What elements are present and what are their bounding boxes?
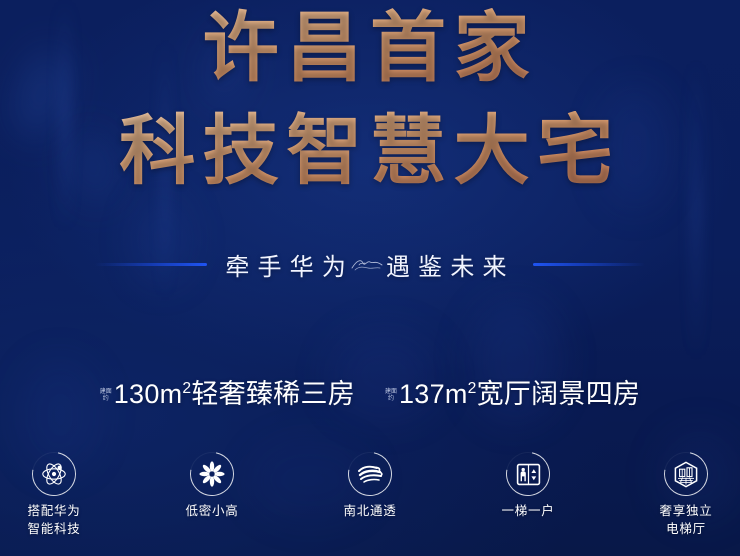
- feature-ring: [190, 452, 234, 496]
- spec-item: 建面 约 137m2宽厅阔景四房: [385, 381, 640, 408]
- feature-item-smart-tech: 搭配华为 智能科技: [11, 452, 97, 539]
- subtitle-text-left: 牵手华为: [225, 247, 354, 282]
- flower-icon: [199, 461, 225, 487]
- promo-banner: 许昌首家 科技智慧大宅 牵手华为 遇鉴未来 建面 约 130m2轻奢臻稀三房: [0, 0, 740, 556]
- headline-line-2: 科技智慧大宅: [0, 111, 740, 192]
- spec-unit: m: [160, 379, 183, 409]
- feature-label: 奢享独立 电梯厅: [659, 503, 712, 539]
- spec-prefix: 建面 约: [100, 389, 112, 402]
- feature-ring: [348, 452, 392, 496]
- spec-area: 137: [399, 379, 445, 409]
- spec-main-text: 130m2轻奢臻稀三房: [114, 381, 355, 408]
- elevator-icon: [516, 462, 541, 487]
- spec-main-text: 137m2宽厅阔景四房: [399, 381, 640, 408]
- spec-area: 130: [114, 379, 160, 409]
- feature-ring: [506, 452, 550, 496]
- feature-item-private-lobby: 奢享独立 电梯厅: [643, 452, 729, 539]
- spec-prefix-line-2: 约: [103, 396, 109, 402]
- lobby-icon: [673, 461, 699, 488]
- headline-line-1: 许昌首家: [0, 8, 740, 89]
- feature-label: 搭配华为 智能科技: [27, 503, 80, 539]
- spec-description: 宽厅阔景四房: [477, 379, 641, 409]
- spec-description: 轻奢臻稀三房: [191, 379, 355, 409]
- subtitle-block: 牵手华为 遇鉴未来: [0, 245, 740, 283]
- feature-item-one-unit-per-lift: 一梯一户: [485, 452, 571, 521]
- divider-right: [533, 263, 645, 266]
- atom-icon: [41, 461, 67, 487]
- feature-ring: [664, 452, 708, 496]
- spec-unit: m: [445, 379, 468, 409]
- huawei-script-mark-icon: [350, 254, 384, 274]
- feature-item-low-density: 低密小高: [169, 452, 255, 521]
- feature-label: 低密小高: [185, 503, 238, 521]
- spec-exponent: 2: [468, 380, 477, 397]
- feature-label: 南北通透: [343, 503, 396, 521]
- divider-left: [95, 263, 207, 266]
- spec-list: 建面 约 130m2轻奢臻稀三房 建面 约 137m2宽厅阔景四房: [0, 381, 740, 408]
- airflow-icon: [356, 463, 384, 485]
- spec-item: 建面 约 130m2轻奢臻稀三房: [100, 381, 355, 408]
- subtitle-text-right: 遇鉴未来: [386, 247, 515, 282]
- spec-prefix: 建面 约: [385, 389, 397, 402]
- feature-item-ventilation: 南北通透: [327, 452, 413, 521]
- spec-prefix-line-2: 约: [388, 396, 394, 402]
- headline-block: 许昌首家 科技智慧大宅: [0, 8, 740, 191]
- feature-label: 一梯一户: [501, 503, 554, 521]
- feature-list: 搭配华为 智能科技: [0, 452, 740, 539]
- feature-ring: [32, 452, 76, 496]
